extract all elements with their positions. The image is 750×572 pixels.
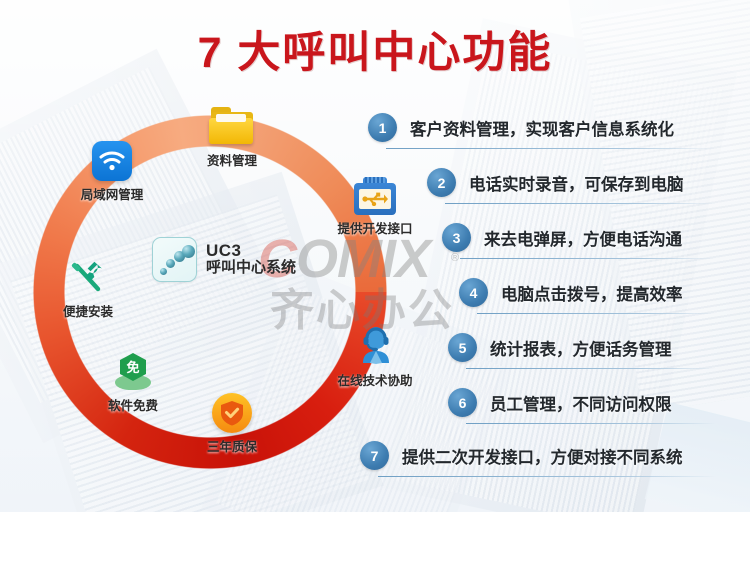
list-item[interactable]: 3 来去电弹屏，方便电话沟通	[442, 223, 682, 252]
item-text: 员工管理，不同访问权限	[490, 391, 672, 415]
list-item[interactable]: 6 员工管理，不同访问权限	[448, 388, 672, 417]
item-text: 电话实时录音，可保存到电脑	[469, 171, 684, 195]
product-name: UC3	[206, 242, 296, 260]
ring-node-label: 三年质保	[182, 436, 282, 455]
item-number-badge: 6	[448, 388, 477, 417]
list-item[interactable]: 4 电脑点击拨号，提高效率	[459, 278, 683, 307]
list-item[interactable]: 5 统计报表，方便话务管理	[448, 333, 672, 362]
product-subtitle: 呼叫中心系统	[206, 259, 296, 277]
item-number-badge: 5	[448, 333, 477, 362]
ring-node-label: 局域网管理	[62, 184, 162, 203]
ring-node-label: 软件免费	[83, 395, 183, 414]
poster-canvas: 7 大呼叫中心功能 资料管理 局域网管理	[0, 0, 750, 572]
ring-node-free: 免 软件免费	[83, 352, 183, 414]
feature-list: 1 客户资料管理，实现客户信息系统化 2 电话实时录音，可保存到电脑 3 来去电…	[360, 100, 750, 480]
item-text: 客户资料管理，实现客户信息系统化	[410, 116, 674, 140]
list-item[interactable]: 7 提供二次开发接口，方便对接不同系统	[360, 441, 683, 470]
list-item[interactable]: 1 客户资料管理，实现客户信息系统化	[368, 113, 674, 142]
ring-node-tools: 便捷安装	[38, 258, 138, 320]
item-number-badge: 3	[442, 223, 471, 252]
ring-node-folder: 资料管理	[182, 107, 282, 169]
ring-node-wifi: 局域网管理	[62, 141, 162, 203]
item-text: 来去电弹屏，方便电话沟通	[484, 226, 682, 250]
tools-icon	[67, 258, 109, 298]
product-logo: UC3 呼叫中心系统	[152, 237, 296, 282]
folder-icon	[209, 107, 255, 147]
free-badge-icon: 免	[113, 352, 153, 392]
shield-check-icon	[212, 393, 252, 433]
item-number-badge: 1	[368, 113, 397, 142]
page-title: 7 大呼叫中心功能	[0, 18, 750, 80]
ring-node-warranty: 三年质保	[182, 393, 282, 455]
item-number-badge: 7	[360, 441, 389, 470]
bottom-white-strip	[0, 512, 750, 572]
ring-node-label: 便捷安装	[38, 301, 138, 320]
item-text: 电脑点击拨号，提高效率	[501, 281, 683, 305]
item-text: 提供二次开发接口，方便对接不同系统	[402, 444, 683, 468]
bubbles-icon	[152, 237, 197, 282]
list-item[interactable]: 2 电话实时录音，可保存到电脑	[427, 168, 684, 197]
item-text: 统计报表，方便话务管理	[490, 336, 672, 360]
item-number-badge: 2	[427, 168, 456, 197]
product-logo-text: UC3 呼叫中心系统	[206, 242, 296, 278]
ring-node-label: 资料管理	[182, 150, 282, 169]
item-number-badge: 4	[459, 278, 488, 307]
wifi-icon	[92, 141, 132, 181]
